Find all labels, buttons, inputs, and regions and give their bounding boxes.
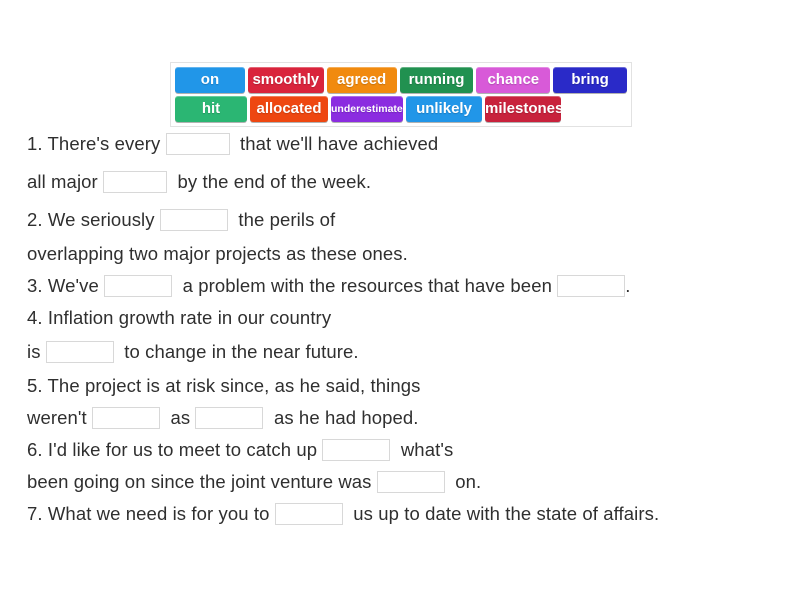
sentence-text: 2. We seriously xyxy=(27,209,160,231)
sentence-text: 3. We've xyxy=(27,275,104,297)
sentence-text: on. xyxy=(445,471,482,493)
sentence-text: overlapping two major projects as these … xyxy=(27,243,408,265)
sentence-line-q3: 3. We've a problem with the resources th… xyxy=(27,275,630,297)
sentence-line-q1b: all major by the end of the week. xyxy=(27,171,371,193)
sentence-text: that we'll have achieved xyxy=(230,133,439,155)
sentence-text: as he had hoped. xyxy=(263,407,418,429)
sentence-line-q2b: overlapping two major projects as these … xyxy=(27,243,408,265)
answer-blank-2[interactable] xyxy=(103,171,167,193)
answer-blank-8[interactable] xyxy=(195,407,263,429)
answer-blank-4[interactable] xyxy=(104,275,172,297)
answer-blank-6[interactable] xyxy=(46,341,114,363)
sentence-line-q4a: 4. Inflation growth rate in our country xyxy=(27,307,331,329)
sentence-line-q6a: 6. I'd like for us to meet to catch up w… xyxy=(27,439,453,461)
sentence-text: 5. The project is at risk since, as he s… xyxy=(27,375,420,397)
sentence-text: 7. What we need is for you to xyxy=(27,503,275,525)
sentence-text: us up to date with the state of affairs. xyxy=(343,503,660,525)
word-tile-agreed[interactable]: agreed xyxy=(327,67,397,93)
sentence-line-q6b: been going on since the joint venture wa… xyxy=(27,471,481,493)
sentence-text: as xyxy=(160,407,195,429)
sentence-text: to change in the near future. xyxy=(114,341,359,363)
word-tile-hit[interactable]: hit xyxy=(175,96,247,122)
sentence-line-q5a: 5. The project is at risk since, as he s… xyxy=(27,375,420,397)
word-tile-running[interactable]: running xyxy=(400,67,474,93)
answer-blank-3[interactable] xyxy=(160,209,228,231)
word-tile-underestimated[interactable]: underestimated xyxy=(331,96,403,122)
sentence-line-q4b: is to change in the near future. xyxy=(27,341,359,363)
sentence-text: the perils of xyxy=(228,209,335,231)
sentence-text: 6. I'd like for us to meet to catch up xyxy=(27,439,322,461)
answer-blank-9[interactable] xyxy=(322,439,390,461)
sentence-line-q2a: 2. We seriously the perils of xyxy=(27,209,335,231)
word-bank-row: hitallocatedunderestimatedunlikelymilest… xyxy=(175,96,627,122)
word-tile-milestones[interactable]: milestones xyxy=(485,96,561,122)
sentence-text: is xyxy=(27,341,46,363)
word-tile-unlikely[interactable]: unlikely xyxy=(406,96,482,122)
word-tile-on[interactable]: on xyxy=(175,67,245,93)
word-tile-smoothly[interactable]: smoothly xyxy=(248,67,324,93)
word-bank-row: onsmoothlyagreedrunningchancebring xyxy=(175,67,627,93)
answer-blank-7[interactable] xyxy=(92,407,160,429)
sentence-text: all major xyxy=(27,171,103,193)
word-tile-chance[interactable]: chance xyxy=(476,67,550,93)
answer-blank-10[interactable] xyxy=(377,471,445,493)
sentence-line-q5b: weren't as as he had hoped. xyxy=(27,407,419,429)
answer-blank-5[interactable] xyxy=(557,275,625,297)
sentence-text: 1. There's every xyxy=(27,133,166,155)
sentence-text: . xyxy=(625,275,630,297)
sentence-text: been going on since the joint venture wa… xyxy=(27,471,377,493)
sentence-text: a problem with the resources that have b… xyxy=(172,275,557,297)
sentence-line-q1a: 1. There's every that we'll have achieve… xyxy=(27,133,438,155)
answer-blank-1[interactable] xyxy=(166,133,230,155)
word-bank-panel: onsmoothlyagreedrunningchancebringhitall… xyxy=(170,62,632,127)
sentence-text: what's xyxy=(390,439,453,461)
answer-blank-11[interactable] xyxy=(275,503,343,525)
sentence-text: weren't xyxy=(27,407,92,429)
sentence-text: 4. Inflation growth rate in our country xyxy=(27,307,331,329)
word-tile-bring[interactable]: bring xyxy=(553,67,627,93)
word-tile-allocated[interactable]: allocated xyxy=(250,96,328,122)
sentence-line-q7: 7. What we need is for you to us up to d… xyxy=(27,503,659,525)
sentence-text: by the end of the week. xyxy=(167,171,371,193)
